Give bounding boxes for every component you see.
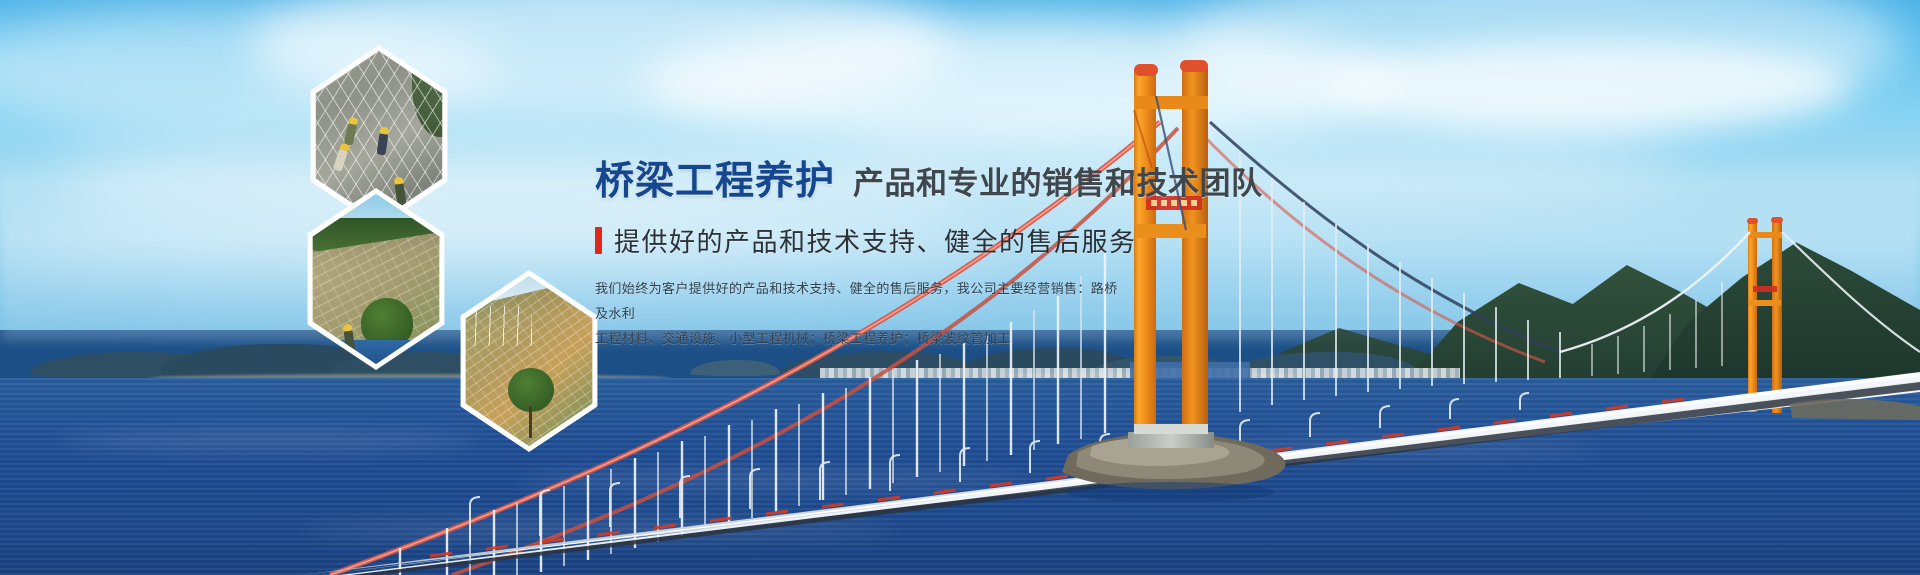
red-accent-bar	[595, 227, 602, 254]
cloud-shape	[1330, 40, 1850, 130]
hex-image-clip	[303, 194, 449, 364]
headline-main: 桥梁工程养护	[595, 150, 835, 206]
island-shape	[690, 360, 780, 376]
water-glint	[60, 430, 480, 452]
water-glint	[520, 470, 1040, 490]
hex-frame	[450, 270, 608, 452]
hex-photo-coastal-slope[interactable]	[450, 270, 608, 452]
vegetated-slope-scene	[303, 194, 449, 364]
hex-image-clip	[456, 276, 602, 446]
water-glint	[1180, 440, 1600, 458]
hex-frame	[297, 188, 455, 370]
coastal-slope-scene	[456, 276, 602, 446]
headline-row: 桥梁工程养护 产品和专业的销售和技术团队	[595, 150, 1295, 206]
headline-sub: 产品和专业的销售和技术团队	[853, 158, 1263, 203]
water-glint	[300, 520, 900, 540]
subheadline-text: 提供好的产品和技术支持、健全的售后服务	[614, 222, 1137, 259]
hex-photo-vegetated-slope[interactable]	[297, 188, 455, 370]
subheadline-row: 提供好的产品和技术支持、健全的售后服务	[595, 222, 1295, 259]
hero-banner: 桥梁工程养护 产品和专业的销售和技术团队 提供好的产品和技术支持、健全的售后服务…	[0, 0, 1920, 575]
description-line-2: 工程材料、交通设施、小型工程机械；桥梁工程养护；桥梁波纹管加工	[595, 327, 1125, 352]
scene-water	[303, 340, 449, 364]
description-block: 我们始终为客户提供好的产品和技术支持、健全的售后服务，我公司主要经营销售：路桥及…	[595, 277, 1125, 352]
description-line-1: 我们始终为客户提供好的产品和技术支持、健全的售后服务，我公司主要经营销售：路桥及…	[595, 277, 1125, 327]
fence-posts	[462, 306, 532, 346]
tree-shape	[508, 368, 554, 412]
banner-copy: 桥梁工程养护 产品和专业的销售和技术团队 提供好的产品和技术支持、健全的售后服务…	[595, 150, 1295, 352]
